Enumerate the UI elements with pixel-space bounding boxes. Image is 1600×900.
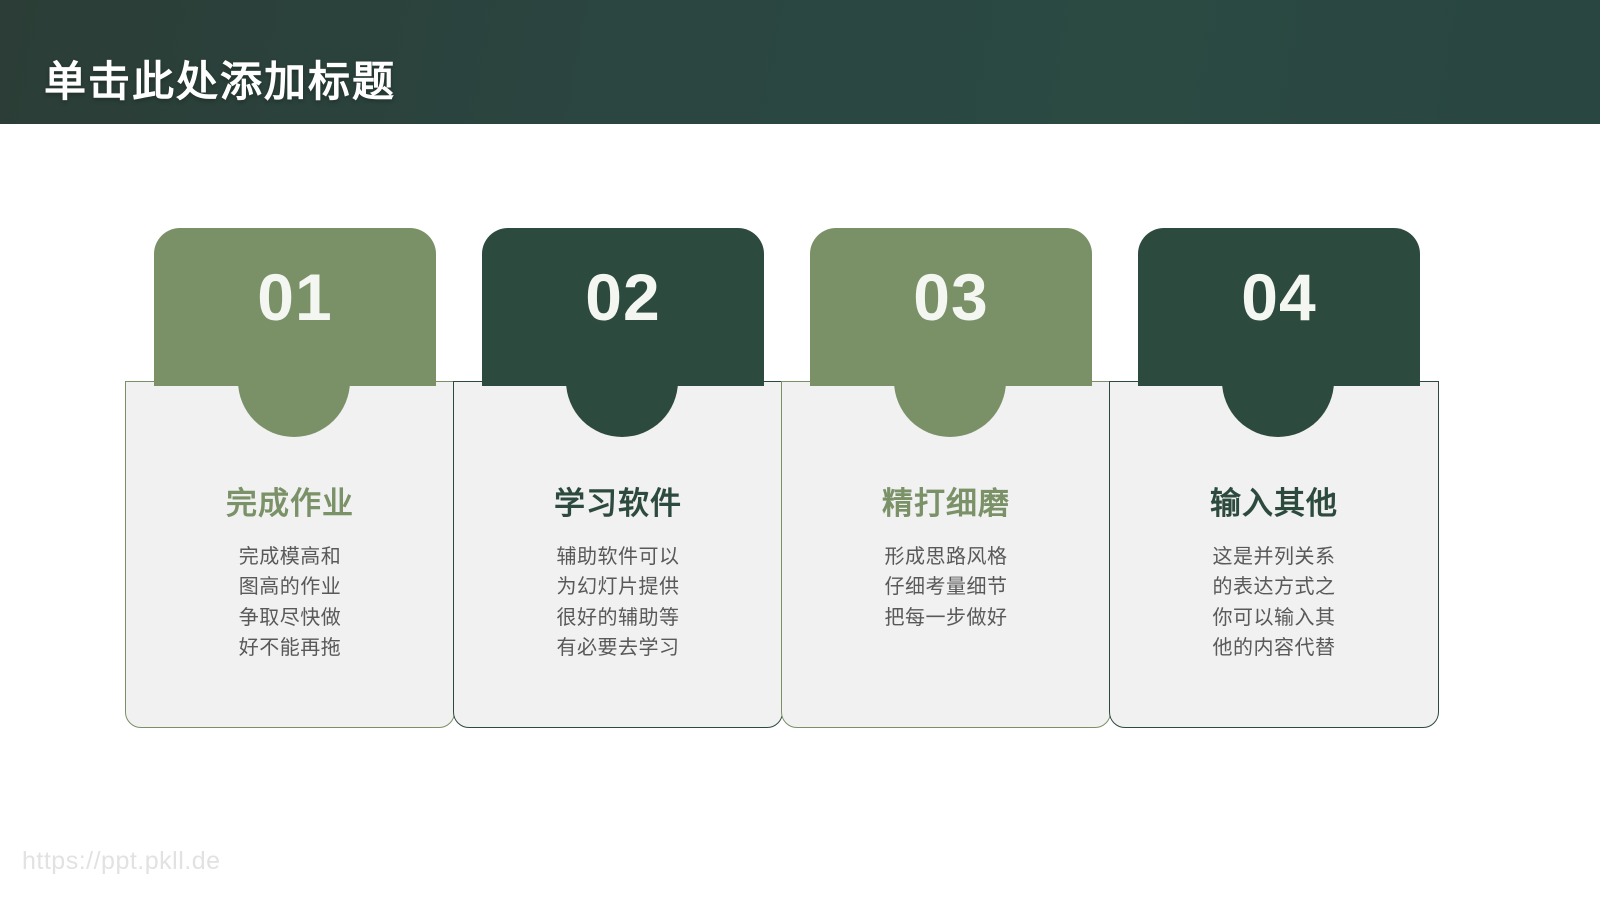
card-title-04: 输入其他: [1110, 488, 1438, 519]
info-card-01[interactable]: 完成作业 完成模高和 图高的作业 争取尽快做 好不能再拖 01: [125, 228, 455, 728]
card-title-01: 完成作业: [126, 488, 454, 519]
card-number-03: 03: [810, 264, 1092, 330]
card-line: 把每一步做好: [782, 603, 1110, 633]
card-description-03: 形成思路风格 仔细考量细节 把每一步做好: [782, 542, 1110, 633]
card-line: 辅助软件可以: [454, 542, 782, 572]
card-line: 争取尽快做: [126, 603, 454, 633]
card-line: 仔细考量细节: [782, 572, 1110, 602]
card-line: 形成思路风格: [782, 542, 1110, 572]
card-tab-02: 02: [482, 228, 764, 386]
card-number-02: 02: [482, 264, 764, 330]
card-tab-03: 03: [810, 228, 1092, 386]
card-description-04: 这是并列关系 的表达方式之 你可以输入其 他的内容代替: [1110, 542, 1438, 664]
card-line: 这是并列关系: [1110, 542, 1438, 572]
card-tab-01: 01: [154, 228, 436, 386]
cards-row: 完成作业 完成模高和 图高的作业 争取尽快做 好不能再拖 01 学习软件 辅助软…: [0, 0, 1600, 900]
info-card-04[interactable]: 输入其他 这是并列关系 的表达方式之 你可以输入其 他的内容代替 04: [1109, 228, 1439, 728]
card-line: 图高的作业: [126, 572, 454, 602]
footer-watermark: https://ppt.pkll.de: [22, 847, 221, 876]
card-description-02: 辅助软件可以 为幻灯片提供 很好的辅助等 有必要去学习: [454, 542, 782, 664]
card-line: 你可以输入其: [1110, 603, 1438, 633]
card-line: 有必要去学习: [454, 633, 782, 663]
card-number-04: 04: [1138, 264, 1420, 330]
card-description-01: 完成模高和 图高的作业 争取尽快做 好不能再拖: [126, 542, 454, 664]
card-title-02: 学习软件: [454, 488, 782, 519]
info-card-03[interactable]: 精打细磨 形成思路风格 仔细考量细节 把每一步做好 03: [781, 228, 1111, 728]
info-card-02[interactable]: 学习软件 辅助软件可以 为幻灯片提供 很好的辅助等 有必要去学习 02: [453, 228, 783, 728]
card-line: 为幻灯片提供: [454, 572, 782, 602]
card-number-01: 01: [154, 264, 436, 330]
card-line: 完成模高和: [126, 542, 454, 572]
card-tab-04: 04: [1138, 228, 1420, 386]
card-line: 的表达方式之: [1110, 572, 1438, 602]
card-line: 好不能再拖: [126, 633, 454, 663]
card-title-03: 精打细磨: [782, 488, 1110, 519]
card-line: 他的内容代替: [1110, 633, 1438, 663]
card-line: 很好的辅助等: [454, 603, 782, 633]
